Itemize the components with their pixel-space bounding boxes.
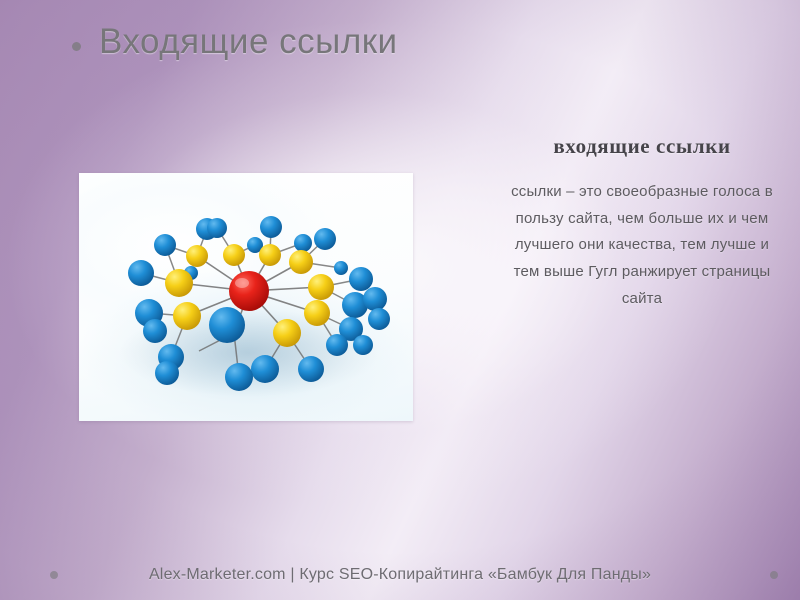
network-diagram-image bbox=[79, 173, 413, 421]
page-title: Входящие ссылки bbox=[99, 22, 398, 61]
slide-footer: Alex-Marketer.com | Курс SEO-Копирайтинг… bbox=[0, 560, 800, 590]
footer-right-dot-icon bbox=[770, 571, 778, 579]
content-paragraph: ссылки – это своеобразные голоса в польз… bbox=[508, 179, 776, 312]
center-node bbox=[229, 271, 269, 311]
text-content-column: входящие ссылки ссылки – это своеобразны… bbox=[508, 132, 776, 312]
slide-title-row: Входящие ссылки bbox=[72, 22, 732, 61]
content-heading: входящие ссылки bbox=[508, 132, 776, 162]
footer-text: Alex-Marketer.com | Курс SEO-Копирайтинг… bbox=[149, 566, 651, 584]
network-graph-illustration bbox=[79, 173, 413, 421]
footer-left-dot-icon bbox=[50, 571, 58, 579]
bullet-dot-icon bbox=[72, 42, 81, 51]
slide-canvas: Входящие ссылки bbox=[0, 0, 800, 600]
